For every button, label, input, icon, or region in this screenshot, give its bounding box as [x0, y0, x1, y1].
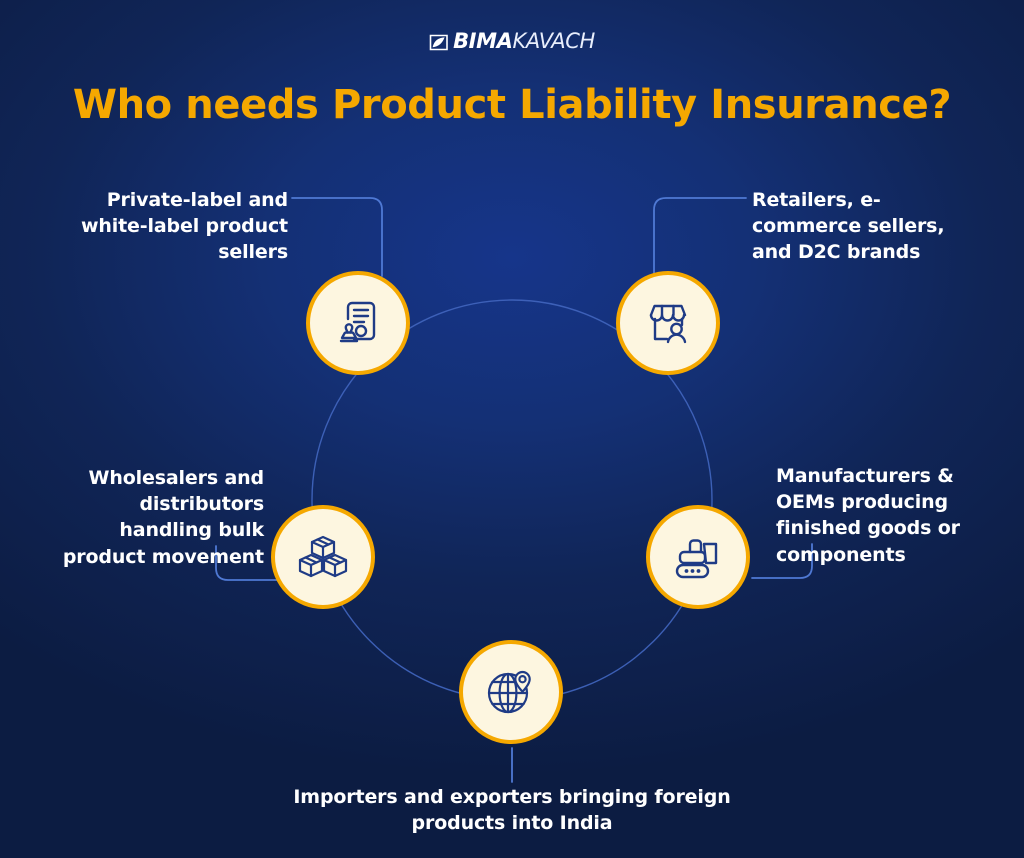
node-wholesalers[interactable]	[271, 505, 375, 609]
label-manufacturers: Manufacturers & OEMs producing finished …	[776, 463, 1006, 568]
connector-private-label	[292, 198, 382, 276]
label-private-label: Private-label and white-label product se…	[56, 187, 288, 266]
certificate-stamp-icon	[328, 293, 388, 353]
node-private-label[interactable]	[306, 271, 410, 375]
storefront-person-icon	[638, 293, 698, 353]
label-wholesalers: Wholesalers and distributors handling bu…	[42, 465, 264, 570]
node-importers[interactable]	[459, 640, 563, 744]
label-importers: Importers and exporters bringing foreign…	[282, 784, 742, 836]
stacked-boxes-icon	[293, 527, 353, 587]
connector-retailers	[654, 198, 746, 276]
node-manufacturers[interactable]	[646, 505, 750, 609]
globe-location-pin-icon	[481, 662, 541, 722]
node-retailers[interactable]	[616, 271, 720, 375]
label-retailers: Retailers, e-commerce sellers, and D2C b…	[752, 187, 974, 266]
excavator-machinery-icon	[668, 527, 728, 587]
infographic-canvas: BIMAKAVACH Who needs Product Liability I…	[0, 0, 1024, 858]
